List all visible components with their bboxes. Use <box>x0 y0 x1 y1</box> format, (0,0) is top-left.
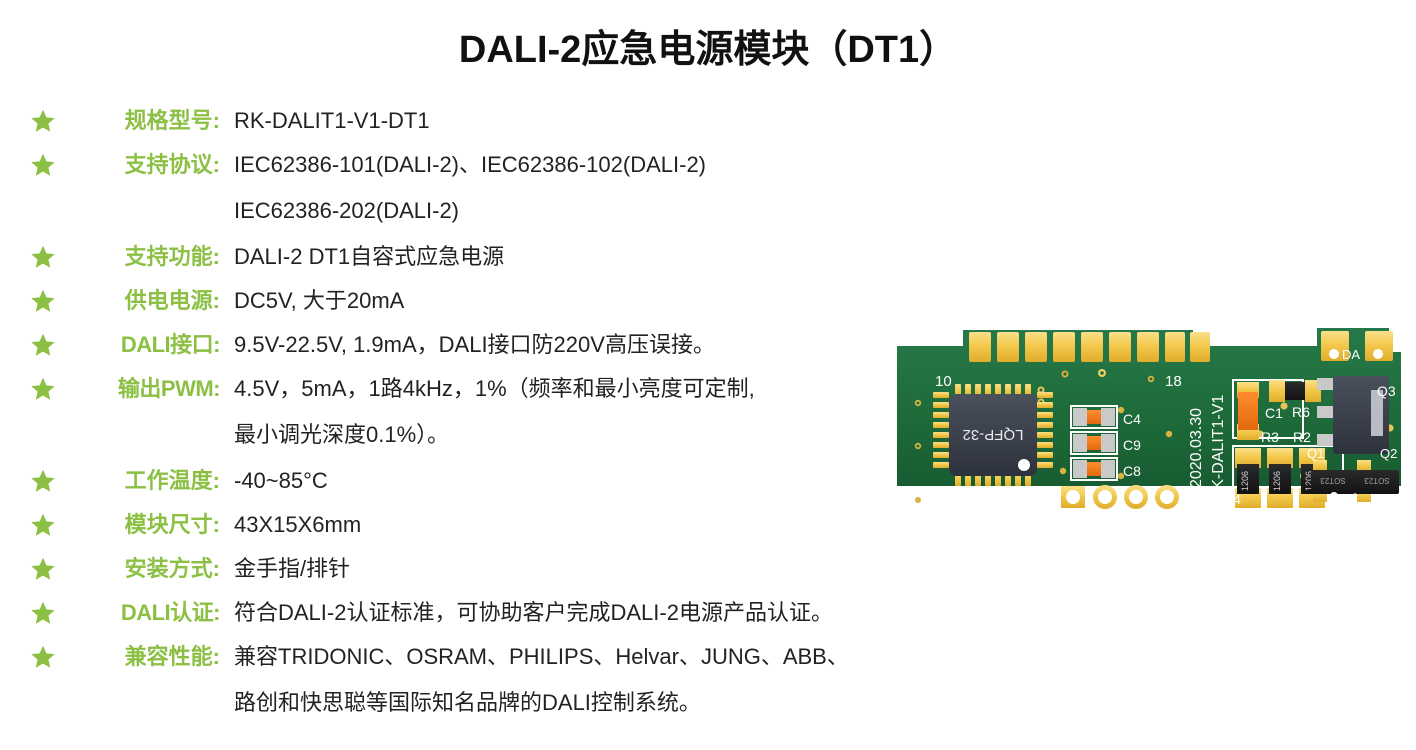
star-icon-cell <box>30 640 68 670</box>
spec-value: 兼容TRIDONIC、OSRAM、PHILIPS、Helvar、JUNG、ABB… <box>220 640 1010 720</box>
silkscreen-chip-label: LQFP-32 <box>963 426 1024 443</box>
star-icon <box>30 600 56 626</box>
star-icon <box>30 556 56 582</box>
spec-row-compatibility: 兼容性能: 兼容TRIDONIC、OSRAM、PHILIPS、Helvar、JU… <box>30 640 1010 720</box>
spec-row-dali-interface: DALI接口: 9.5V-22.5V, 1.9mA，DALI接口防220V高压误… <box>30 328 1010 362</box>
silkscreen-date-code: 2020.03.30 <box>1188 408 1205 488</box>
spec-row-mounting: 安装方式: 金手指/排针 <box>30 552 1010 586</box>
silkscreen-c9: C9 <box>1123 437 1141 453</box>
star-icon <box>30 152 56 178</box>
silkscreen-transistor-code: SOT23 <box>1320 476 1346 485</box>
spec-value: DALI-2 DT1自容式应急电源 <box>220 240 1010 274</box>
spec-label: 兼容性能: <box>68 640 220 674</box>
silkscreen-q2: Q2 <box>1380 446 1397 461</box>
star-icon-cell <box>30 552 68 582</box>
silkscreen-r2: R2 <box>1293 429 1311 445</box>
pcb-svg: DA 10 18 <box>893 318 1408 518</box>
silkscreen-c8: C8 <box>1123 463 1141 479</box>
star-icon-cell <box>30 240 68 270</box>
spec-value: 43X15X6mm <box>220 508 1010 542</box>
spec-label: 安装方式: <box>68 552 220 586</box>
spec-value: 金手指/排针 <box>220 552 1010 586</box>
star-icon-cell <box>30 104 68 134</box>
spec-label: 规格型号: <box>68 104 220 138</box>
star-icon <box>30 288 56 314</box>
star-icon <box>30 512 56 538</box>
silkscreen-resistor-code: 1206 <box>1240 471 1250 491</box>
spec-value-line: RK-DALIT1-V1-DT1 <box>234 104 1010 138</box>
spec-value: 9.5V-22.5V, 1.9mA，DALI接口防220V高压误接。 <box>220 328 1010 362</box>
silkscreen-r4: R4 <box>1223 491 1241 507</box>
star-icon-cell <box>30 464 68 494</box>
spec-value-line: IEC62386-101(DALI-2)、IEC62386-102(DALI-2… <box>234 148 1010 182</box>
silkscreen-transistor-code: SOT23 <box>1364 476 1390 485</box>
star-icon-cell <box>30 596 68 626</box>
spec-row-model: 规格型号: RK-DALIT1-V1-DT1 <box>30 104 1010 138</box>
spec-label: 输出PWM: <box>68 372 220 406</box>
silkscreen-pin-18: 18 <box>1165 373 1182 390</box>
star-icon-cell <box>30 284 68 314</box>
spec-value: DC5V, 大于20mA <box>220 284 1010 318</box>
spec-label: 支持协议: <box>68 148 220 182</box>
spec-row-dimensions: 模块尺寸: 43X15X6mm <box>30 508 1010 542</box>
capacitor-group: C4 C9 C8 <box>1071 406 1141 480</box>
spec-label: DALI接口: <box>68 328 220 362</box>
silkscreen-resistor-code: 1206 <box>1272 471 1282 491</box>
silkscreen-r6: R6 <box>1292 404 1310 420</box>
silkscreen-q1: Q1 <box>1307 446 1324 461</box>
star-icon-cell <box>30 328 68 358</box>
star-icon-cell <box>30 372 68 402</box>
star-icon <box>30 332 56 358</box>
spec-value-line: DALI-2 DT1自容式应急电源 <box>234 240 1010 274</box>
spec-label: 供电电源: <box>68 284 220 318</box>
spec-list: 规格型号: RK-DALIT1-V1-DT1 支持协议: IEC62386-10… <box>30 104 1010 732</box>
star-icon <box>30 108 56 134</box>
spec-label: 模块尺寸: <box>68 508 220 542</box>
spec-value-line: DC5V, 大于20mA <box>234 284 1010 318</box>
star-icon <box>30 644 56 670</box>
spec-row-pwm-output: 输出PWM: 4.5V，5mA，1路4kHz，1%（频率和最小亮度可定制, 最小… <box>30 372 1010 452</box>
lqfp-32-chip: LQFP-32 <box>933 384 1053 486</box>
star-icon-cell <box>30 508 68 538</box>
spec-value-line: 金手指/排针 <box>234 552 1010 586</box>
spec-value-line: IEC62386-202(DALI-2) <box>234 194 1010 228</box>
spec-row-power-supply: 供电电源: DC5V, 大于20mA <box>30 284 1010 318</box>
silkscreen-c4: C4 <box>1123 411 1141 427</box>
star-icon-cell <box>30 148 68 178</box>
star-icon <box>30 244 56 270</box>
spec-label: 支持功能: <box>68 240 220 274</box>
pcb-board-image: DA 10 18 <box>893 318 1408 518</box>
spec-row-temperature: 工作温度: -40~85°C <box>30 464 1010 498</box>
through-hole-pads <box>1061 485 1201 509</box>
silkscreen-pin-10: 10 <box>935 373 952 390</box>
component-q3: Q3 <box>1317 376 1396 454</box>
spec-row-function: 支持功能: DALI-2 DT1自容式应急电源 <box>30 240 1010 274</box>
silkscreen-part-number: RK-DALIT1-V1 <box>1210 395 1227 502</box>
star-icon <box>30 468 56 494</box>
spec-label: 工作温度: <box>68 464 220 498</box>
spec-value: RK-DALIT1-V1-DT1 <box>220 104 1010 138</box>
spec-value: IEC62386-101(DALI-2)、IEC62386-102(DALI-2… <box>220 148 1010 228</box>
gold-finger-connector <box>969 332 1210 362</box>
page-title: DALI-2应急电源模块（DT1） <box>0 18 1416 73</box>
spec-value: 4.5V，5mA，1路4kHz，1%（频率和最小亮度可定制, 最小调光深度0.1… <box>220 372 1010 452</box>
spec-value: -40~85°C <box>220 464 1010 498</box>
spec-value-line: 路创和快思聪等国际知名品牌的DALI控制系统。 <box>234 686 1010 720</box>
silkscreen-q3: Q3 <box>1377 383 1396 399</box>
spec-value-line: 符合DALI-2认证标准，可协助客户完成DALI-2电源产品认证。 <box>234 596 1010 630</box>
spec-value-line: 兼容TRIDONIC、OSRAM、PHILIPS、Helvar、JUNG、ABB… <box>234 640 1010 674</box>
star-icon <box>30 376 56 402</box>
spec-row-protocol: 支持协议: IEC62386-101(DALI-2)、IEC62386-102(… <box>30 148 1010 228</box>
spec-label: DALI认证: <box>68 596 220 630</box>
silkscreen-da: DA <box>1342 347 1360 362</box>
silkscreen-c1: C1 <box>1265 405 1283 421</box>
spec-value: 符合DALI-2认证标准，可协助客户完成DALI-2电源产品认证。 <box>220 596 1010 630</box>
spec-row-certification: DALI认证: 符合DALI-2认证标准，可协助客户完成DALI-2电源产品认证… <box>30 596 1010 630</box>
silkscreen-r3: R3 <box>1261 429 1279 445</box>
